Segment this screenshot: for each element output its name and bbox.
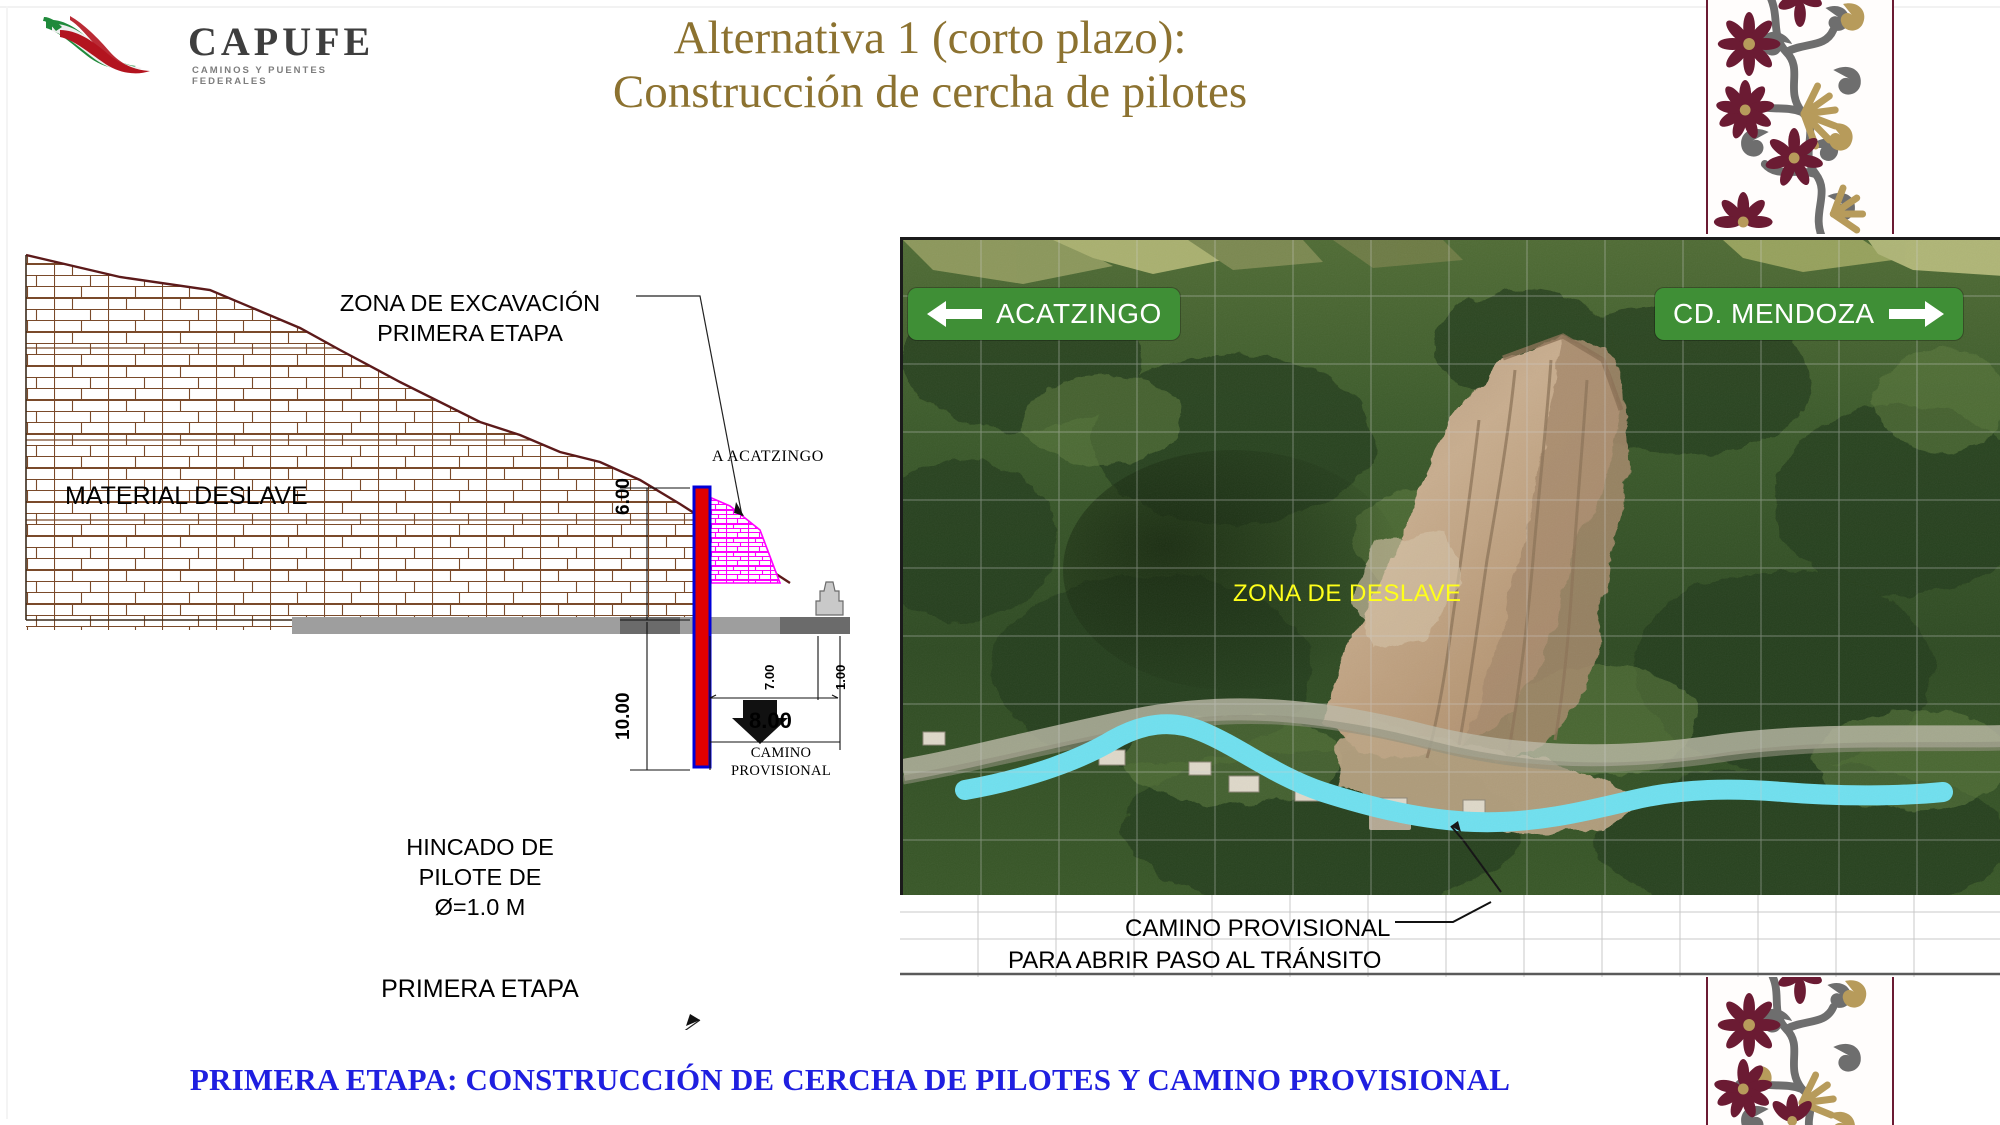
dimension-label-600: 6.00 [613,478,635,515]
right-arrow-icon [1889,300,1945,328]
left-arrow-icon [926,300,982,328]
dimension-label-100: 1.00 [833,665,848,690]
logo-tagline: CAMINOS Y PUENTES FEDERALES [192,65,340,87]
sign-label-acatzingo: ACATZINGO [996,298,1162,330]
caption-camino-provisional: CAMINO PROVISIONAL [1125,915,1390,943]
label-primera-etapa: PRIMERA ETAPA [330,975,630,1004]
caption-para-abrir-paso: PARA ABRIR PASO AL TRÁNSITO [1008,947,1381,975]
floral-pattern-icon [1708,975,1892,1125]
capufe-logo: CAPUFE CAMINOS Y PUENTES FEDERALES [40,12,340,87]
barrier-post-icon [816,582,843,615]
label-hincado-pilote: HINCADO DE PILOTE DE Ø=1.0 M [330,832,630,922]
pile-element [694,487,710,767]
floral-pattern-icon [1708,0,1892,234]
sign-label-cd-mendoza: CD. MENDOZA [1673,298,1875,330]
title-line-2: Construcción de cercha de pilotes [480,66,1380,120]
label-zona-excavacion: ZONA DE EXCAVACIÓN PRIMERA ETAPA [310,288,630,348]
top-divider [0,6,2000,8]
road-sign-cd-mendoza[interactable]: CD. MENDOZA [1655,288,1963,340]
leader-line-hincado [540,1020,700,1030]
dimension-label-700: 7.00 [762,665,777,690]
leader-line-excavacion [636,296,742,516]
caption-leader-line [1395,900,1505,940]
page-title: Alternativa 1 (corto plazo): Construcció… [480,12,1380,119]
floral-ornament-bottom [1706,975,1894,1125]
logo-wordmark: CAPUFE [188,18,374,65]
slide-canvas: CAPUFE CAMINOS Y PUENTES FEDERALES Alter… [0,0,2000,1125]
dimension-1000 [630,622,690,770]
dimension-label-1000: 10.00 [613,692,635,740]
title-line-1: Alternativa 1 (corto plazo): [480,12,1380,66]
label-camino-provisional-drawing: CAMINO PROVISIONAL [716,745,846,781]
label-material-deslave: MATERIAL DESLAVE [65,482,308,511]
road-sign-acatzingo[interactable]: ACATZINGO [908,288,1180,340]
label-zona-deslave: ZONA DE DESLAVE [1233,580,1461,608]
mexican-flag-ribbon-icon [40,14,170,76]
dimension-label-800: 8.00 [749,708,792,734]
floral-ornament-top [1706,0,1894,234]
label-a-acatzingo: A ACATZINGO [712,448,824,466]
footer-caption: PRIMERA ETAPA: CONSTRUCCIÓN DE CERCHA DE… [0,1062,1700,1098]
